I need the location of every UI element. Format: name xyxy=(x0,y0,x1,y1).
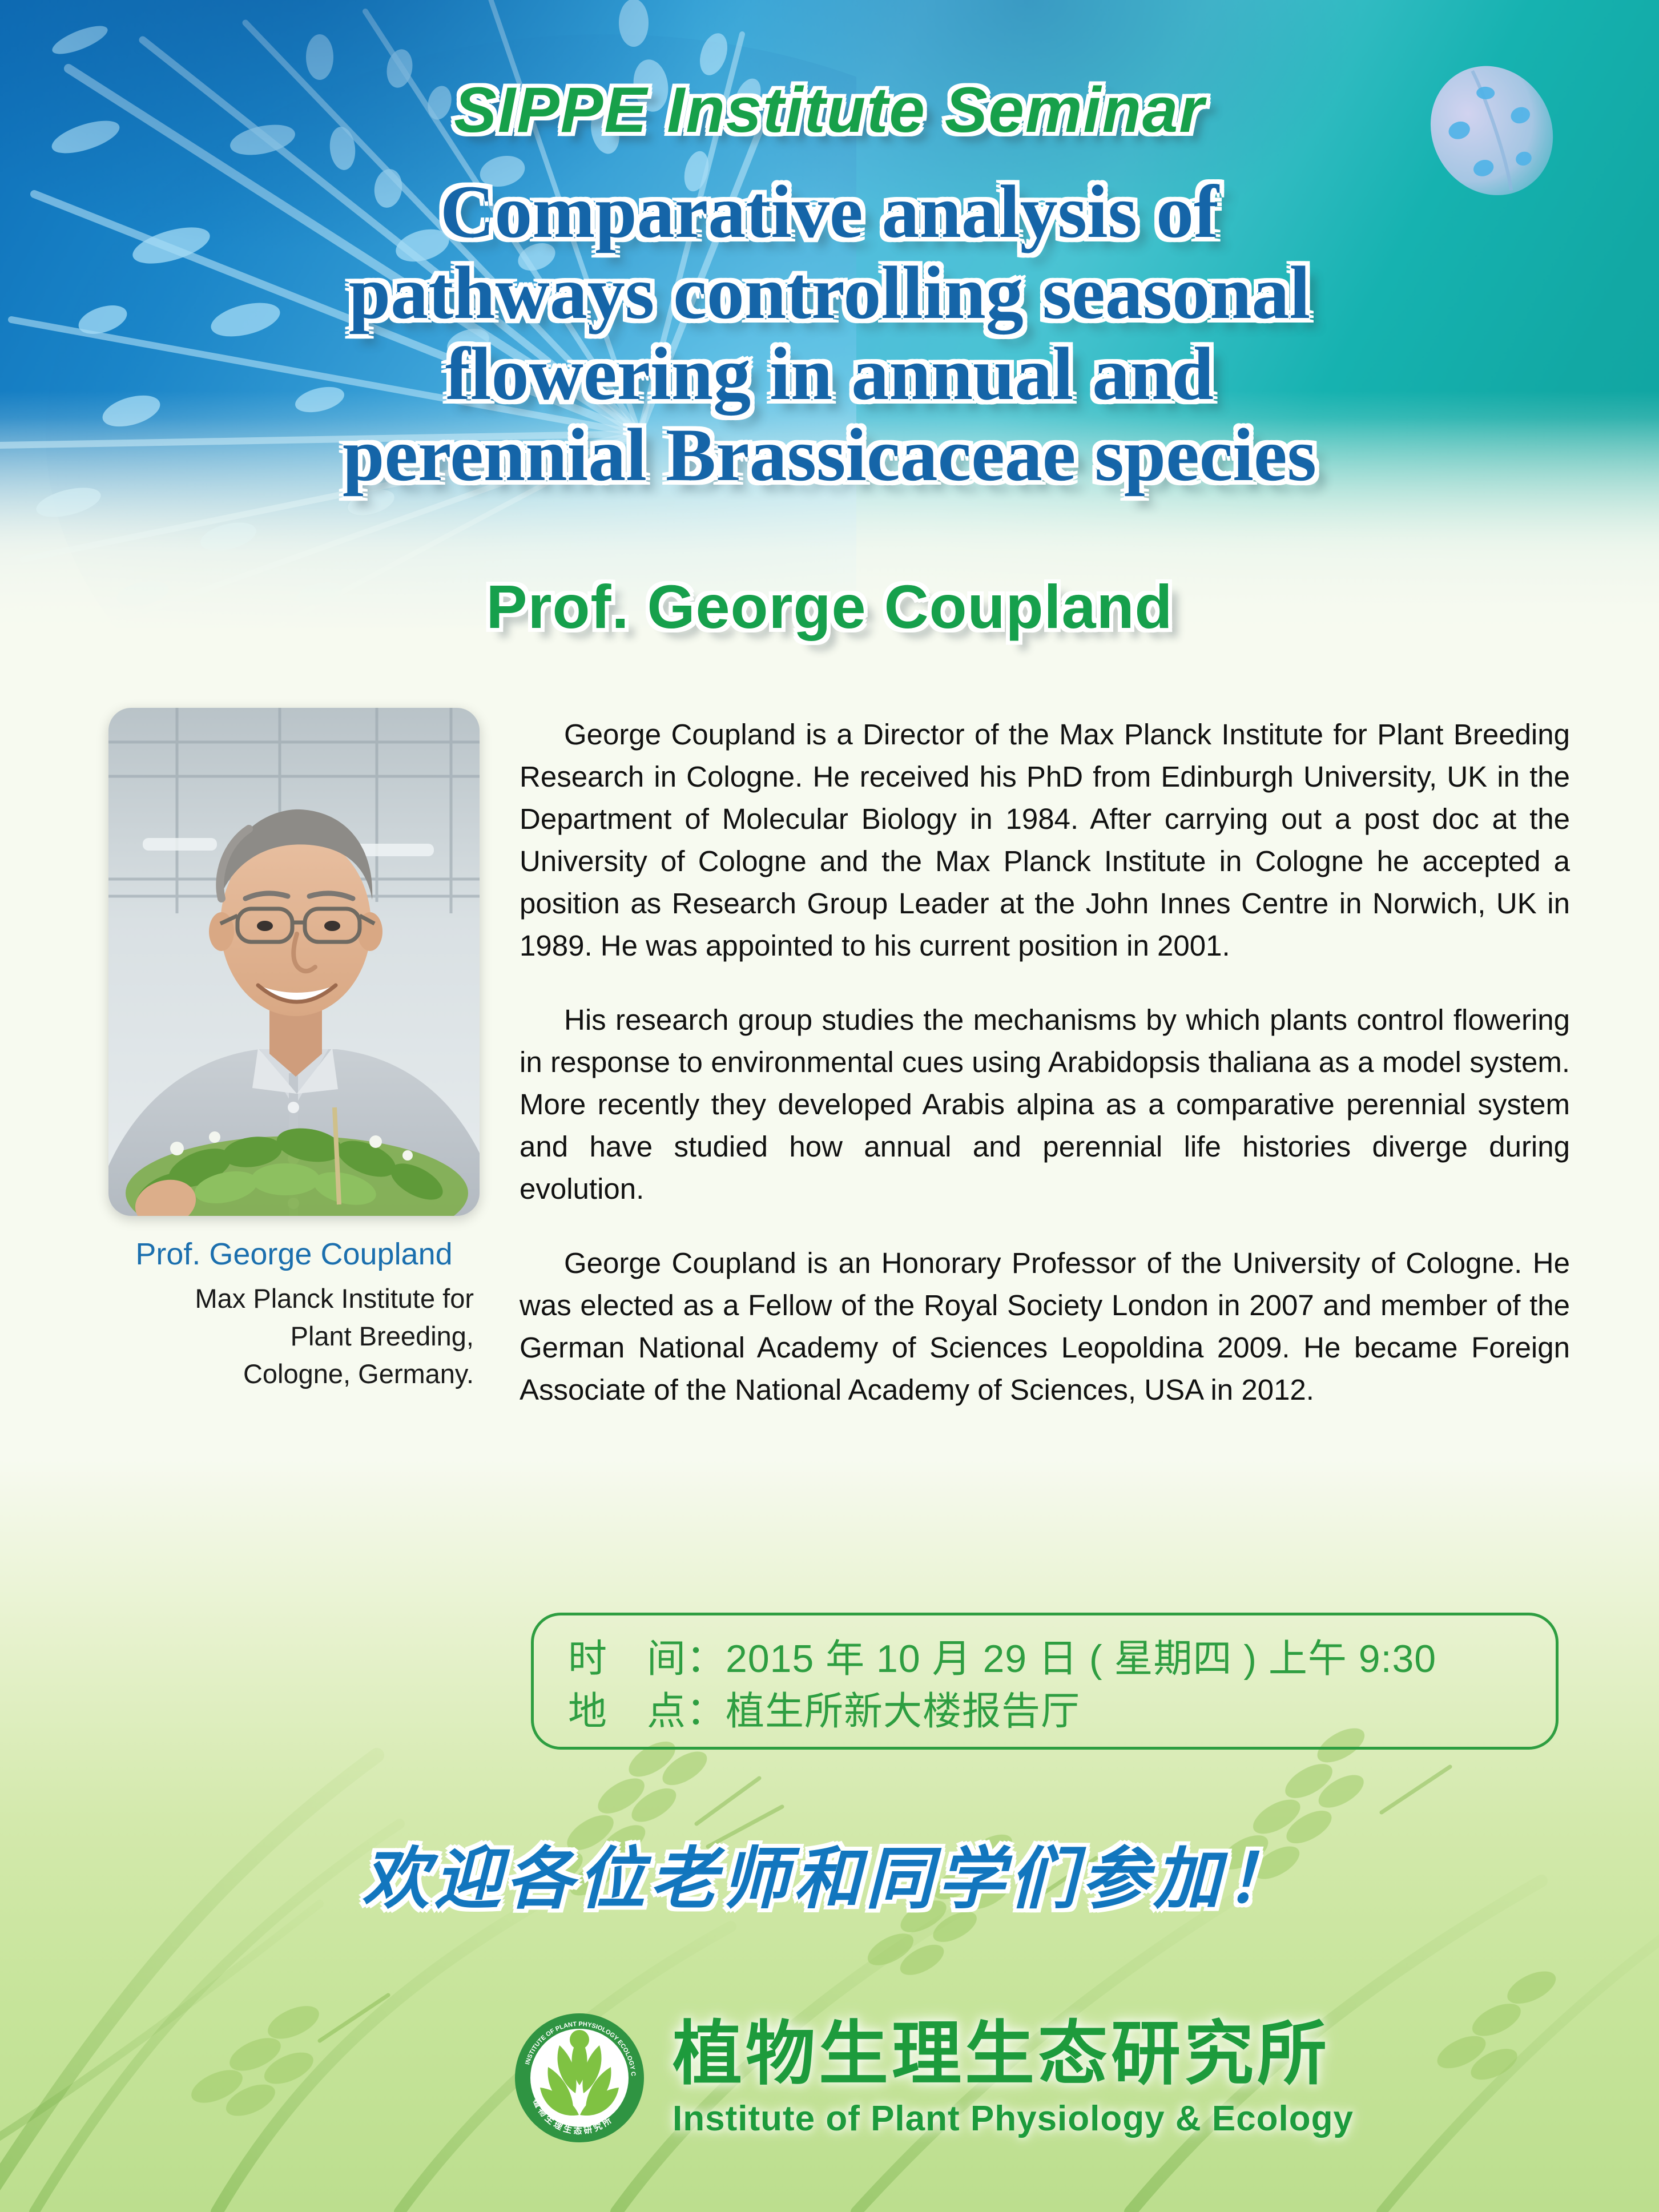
photo-caption-affiliation: Max Planck Institute for Plant Breeding,… xyxy=(108,1280,480,1393)
speaker-panel: Prof. George Coupland Max Planck Institu… xyxy=(108,708,480,1393)
welcome-banner-text: 欢迎各位老师和同学们参加！ xyxy=(0,1824,1659,1921)
speaker-portrait-photo xyxy=(108,708,480,1216)
bio-paragraph-2: His research group studies the mechanism… xyxy=(520,999,1570,1210)
event-place-line: 地 点：植生所新大楼报告厅 xyxy=(568,1685,1556,1738)
page-title-line-4: perennial Brassicaceae species xyxy=(0,414,1659,495)
institute-seal-logo: INSTITUTE OF PLANT PHYSIOLOGY ECOLOGY CA… xyxy=(514,2012,645,2143)
bio-paragraph-1: George Coupland is a Director of the Max… xyxy=(520,714,1570,967)
affiliation-line-2: Plant Breeding, xyxy=(108,1317,474,1355)
institute-name-block: 植物生理生态研究所 Institute of Plant Physiology … xyxy=(673,2016,1354,2140)
event-details-box: 时 间：2015 年 10 月 29 日 ( 星期四 ) 上午 9:30 地 点… xyxy=(531,1613,1559,1750)
page-title-line-1: Comparative analysis of xyxy=(0,171,1659,252)
institute-name-cn: 植物生理生态研究所 xyxy=(673,2016,1354,2092)
page-title-line-2: pathways controlling seasonal xyxy=(0,252,1659,333)
speaker-name-heading: Prof. George Coupland xyxy=(0,571,1659,642)
seminar-poster: SIPPE Institute Seminar Comparative anal… xyxy=(0,0,1659,2212)
event-time-line: 时 间：2015 年 10 月 29 日 ( 星期四 ) 上午 9:30 xyxy=(568,1633,1556,1685)
page-title-line-3: flowering in annual and xyxy=(0,333,1659,414)
institute-footer: INSTITUTE OF PLANT PHYSIOLOGY ECOLOGY CA… xyxy=(514,2012,1354,2143)
bio-paragraph-3: George Coupland is an Honorary Professor… xyxy=(520,1242,1570,1411)
affiliation-line-3: Cologne, Germany. xyxy=(108,1355,474,1393)
seminar-series-label: SIPPE Institute Seminar xyxy=(0,73,1659,147)
affiliation-line-1: Max Planck Institute for xyxy=(108,1280,474,1317)
photo-caption-name: Prof. George Coupland xyxy=(108,1236,480,1272)
institute-name-en: Institute of Plant Physiology & Ecology xyxy=(673,2098,1354,2140)
speaker-biography: George Coupland is a Director of the Max… xyxy=(520,714,1570,1443)
page-title: Comparative analysis of pathways control… xyxy=(0,171,1659,495)
